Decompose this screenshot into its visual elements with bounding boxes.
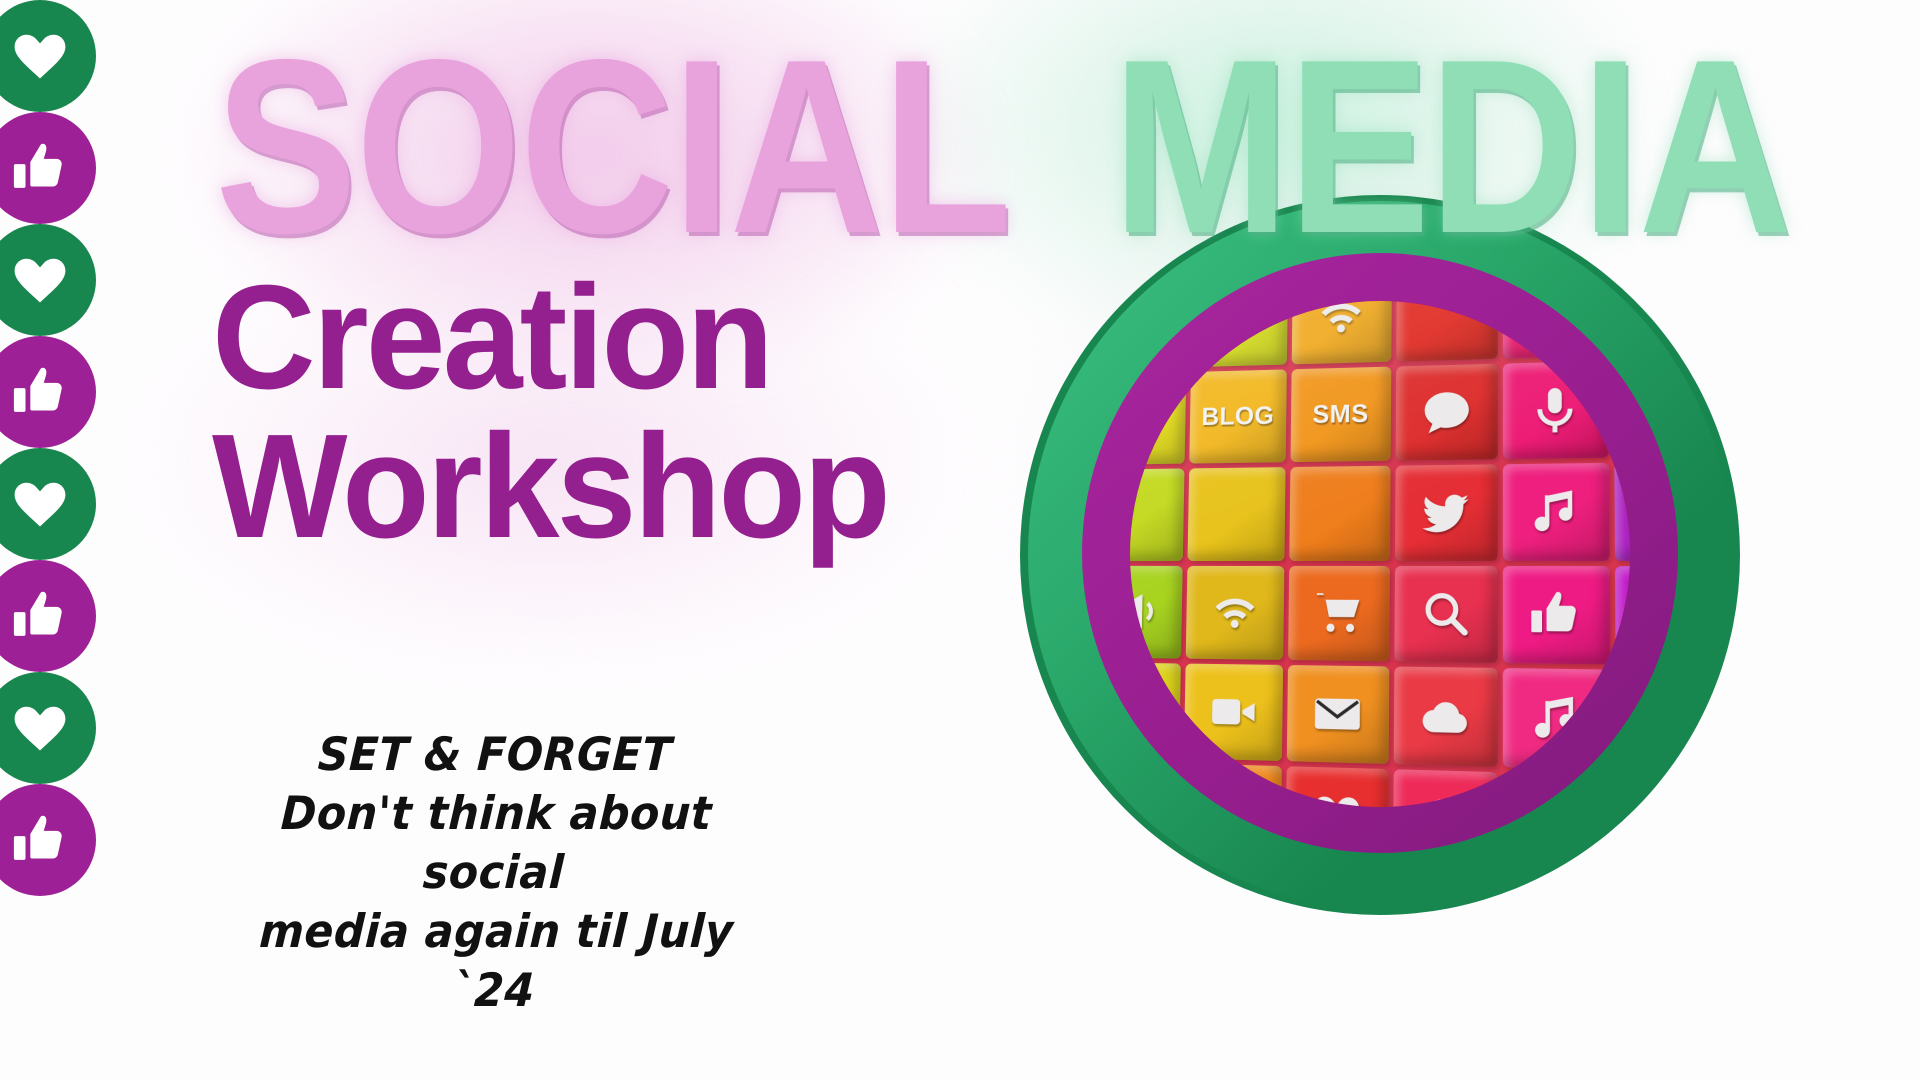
- medallion-photo: BLOGSMSSMS: [1130, 301, 1630, 807]
- icon-tile: [1503, 566, 1610, 665]
- icon-tile: [1292, 301, 1392, 364]
- circular-image-medallion: BLOGSMSSMS: [1020, 195, 1740, 915]
- rail-thumbs-up-icon: [0, 784, 96, 896]
- icon-tile: [1130, 372, 1186, 465]
- reaction-icon-rail: [0, 0, 118, 1080]
- rail-heart-icon: [0, 0, 96, 112]
- envelope-icon: [1312, 688, 1364, 742]
- icon-tile: [1614, 566, 1630, 667]
- icon-tile: [1130, 761, 1179, 807]
- heart-icon: [1311, 789, 1363, 807]
- icon-tile: [1289, 465, 1390, 560]
- tile-label: BLOG: [1201, 401, 1274, 432]
- icon-tile: [1286, 766, 1389, 807]
- icon-tile: [1612, 301, 1630, 355]
- icon-tile: [1187, 467, 1286, 561]
- subheadline-line-workshop: Workshop: [212, 417, 888, 558]
- subheadline-line-creation: Creation: [212, 268, 888, 409]
- icon-tile: [1394, 464, 1497, 561]
- icon-tile: [1503, 301, 1608, 358]
- rail-thumbs-up-icon: [0, 560, 96, 672]
- hashtag-icon: [1529, 796, 1584, 807]
- rail-thumbs-up-icon: [0, 112, 96, 224]
- bird-icon: [1420, 486, 1472, 538]
- icon-tile: [1130, 301, 1188, 370]
- chat-bubble-icon: [1420, 386, 1472, 438]
- headline-word-media: MEDIA: [1112, 22, 1791, 270]
- icon-tile: [1288, 565, 1389, 661]
- poster-canvas: SOCIALMEDIA Creation Workshop SET & FORG…: [0, 0, 1920, 1080]
- icon-tile: [1287, 665, 1389, 764]
- heart-icon: [11, 27, 69, 85]
- tagline-line-2: Don't think about social: [213, 784, 777, 902]
- heart-icon: [11, 251, 69, 309]
- icon-tile: [1615, 670, 1630, 773]
- icon-tile: [1503, 668, 1611, 770]
- icon-tile: [1394, 565, 1498, 663]
- rail-heart-icon: [0, 448, 96, 560]
- icon-tile: SMS: [1290, 366, 1390, 461]
- heart-icon: [11, 699, 69, 757]
- video-camera-icon: [1208, 686, 1259, 739]
- video-camera-icon: [1528, 301, 1581, 336]
- icon-tile: [1393, 667, 1497, 767]
- tagline-line-3: media again til July `24: [213, 902, 777, 1020]
- subheadline: Creation Workshop: [212, 268, 909, 557]
- icon-tile: [1130, 468, 1184, 560]
- tile-label: SMS: [1312, 399, 1368, 430]
- wifi-icon: [1316, 301, 1367, 342]
- chat-bubble-icon: [1418, 793, 1471, 807]
- search-icon: [1419, 587, 1472, 640]
- icon-tile: [1191, 301, 1289, 367]
- icon-tile: [1182, 763, 1282, 807]
- thumbs-up-icon: [11, 139, 69, 197]
- thumbs-up-icon: [11, 811, 69, 869]
- icon-tile: [1130, 565, 1182, 659]
- thumbs-up-icon: [11, 363, 69, 421]
- icon-tile: BLOG: [1189, 369, 1287, 463]
- tagline-line-1: SET & FORGET: [215, 725, 776, 784]
- thumbs-up-icon: [11, 587, 69, 645]
- icon-tile: [1183, 664, 1283, 761]
- icon-tile: [1503, 772, 1611, 807]
- music-note-icon: [1529, 691, 1584, 746]
- icon-tile: [1503, 361, 1609, 459]
- icon-tile: [1130, 662, 1180, 758]
- rail-heart-icon: [0, 672, 96, 784]
- music-note-icon: [1529, 485, 1583, 538]
- social-icon-tile-grid: BLOGSMSSMS: [1130, 301, 1630, 807]
- cloud-icon: [1419, 689, 1472, 743]
- user-icon: [1206, 786, 1257, 807]
- thumbs-up-icon: [1529, 588, 1583, 642]
- icon-tile: [1614, 461, 1630, 560]
- wifi-icon: [1209, 587, 1259, 638]
- icon-tile: [1396, 301, 1498, 361]
- headline-word-social: SOCIAL: [215, 22, 1010, 270]
- icon-tile: SMS: [1616, 776, 1630, 807]
- icon-tile: [1185, 565, 1284, 660]
- microphone-icon: [1528, 383, 1582, 436]
- icon-tile: [1393, 769, 1498, 807]
- megaphone-icon: [1130, 586, 1158, 637]
- icon-tile: [1613, 358, 1630, 458]
- handwritten-tagline: SET & FORGET Don't think about social me…: [195, 725, 795, 1019]
- shopping-cart-icon: [1313, 587, 1365, 639]
- icon-tile: [1395, 364, 1498, 461]
- rail-thumbs-up-icon: [0, 336, 96, 448]
- icon-tile: [1503, 462, 1609, 560]
- rail-heart-icon: [0, 224, 96, 336]
- headline: SOCIALMEDIA: [215, 22, 1901, 270]
- heart-icon: [11, 475, 69, 533]
